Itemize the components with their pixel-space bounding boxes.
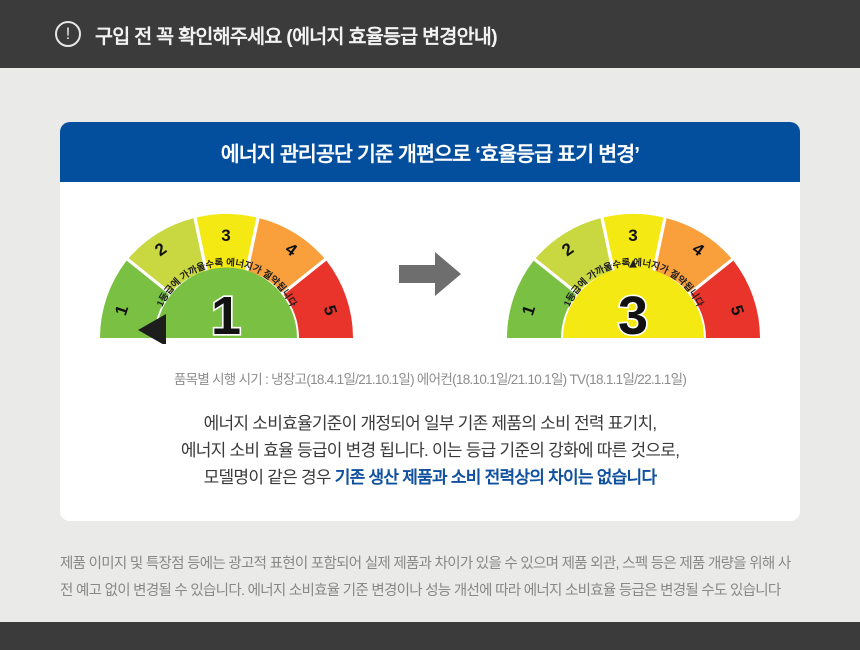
card-header-title: 에너지 관리공단 기준 개편으로 ‘효율등급 표기 변경’ (221, 137, 639, 167)
page-body: 에너지 관리공단 기준 개편으로 ‘효율등급 표기 변경’ (0, 122, 860, 605)
gauge-before: 1 2 3 4 5 1등급에 가까울수록 에너지가 절약됩니다 1 (94, 208, 359, 344)
notice-paragraph-line-1: 에너지 소비효율기준이 개정되어 일부 기존 제품의 소비 전력 표기치, (60, 410, 800, 437)
schedule-caption: 품목별 시행 시기 : 냉장고(18.4.1일/21.10.1일) 에어컨(18… (60, 368, 800, 388)
notice-paragraph-line-3: 모델명이 같은 경우 기존 생산 제품과 소비 전력상의 차이는 없습니다 (60, 464, 800, 491)
card-header: 에너지 관리공단 기준 개편으로 ‘효율등급 표기 변경’ (60, 122, 800, 182)
notice-paragraph-highlight: 기존 생산 제품과 소비 전력상의 차이는 없습니다 (335, 468, 657, 487)
gauge-after-svg: 1 2 3 4 5 1등급에 가까울수록 에너지가 절약됩니다 3 (501, 208, 766, 344)
notice-title: 구입 전 꼭 확인해주세요 (에너지 효율등급 변경안내) (95, 20, 497, 49)
disclaimer-text: 제품 이미지 및 특장점 등에는 광고적 표현이 포함되어 실제 제품과 차이가… (60, 551, 800, 605)
gauge-tick-3: 3 (221, 226, 230, 245)
notice-paragraph: 에너지 소비효율기준이 개정되어 일부 기존 제품의 소비 전력 표기치, 에너… (60, 410, 800, 491)
gauge-before-grade: 1 (211, 286, 241, 344)
notice-topbar: ! 구입 전 꼭 확인해주세요 (에너지 효율등급 변경안내) (0, 0, 860, 68)
bottom-strip (0, 622, 860, 650)
card-body: 1 2 3 4 5 1등급에 가까울수록 에너지가 절약됩니다 1 (60, 182, 800, 521)
gauge-after-grade: 3 (618, 286, 648, 344)
gauge-comparison: 1 2 3 4 5 1등급에 가까울수록 에너지가 절약됩니다 1 (60, 206, 800, 346)
gauge-before-svg: 1 2 3 4 5 1등급에 가까울수록 에너지가 절약됩니다 1 (94, 208, 359, 344)
gauge-tick-3: 3 (628, 226, 637, 245)
exclamation-circle-icon: ! (55, 21, 81, 47)
right-arrow-icon (399, 252, 461, 301)
notice-paragraph-line-3-plain: 모델명이 같은 경우 (204, 468, 335, 487)
energy-grade-card: 에너지 관리공단 기준 개편으로 ‘효율등급 표기 변경’ (60, 122, 800, 521)
notice-paragraph-line-2: 에너지 소비 효율 등급이 변경 됩니다. 이는 등급 기준의 강화에 따른 것… (60, 437, 800, 464)
gauge-after: 1 2 3 4 5 1등급에 가까울수록 에너지가 절약됩니다 3 (501, 208, 766, 344)
